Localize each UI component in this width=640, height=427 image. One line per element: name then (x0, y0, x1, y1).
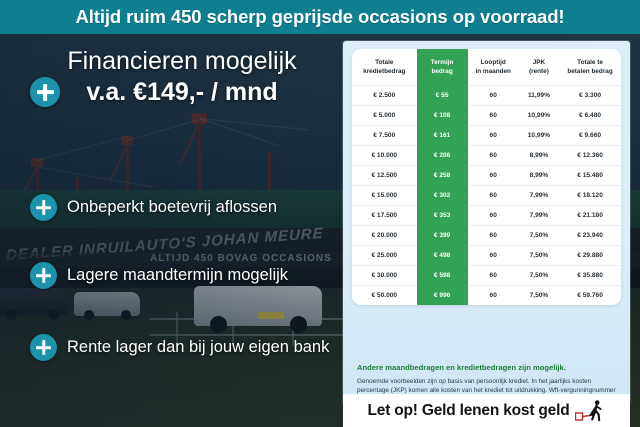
cell-jpk: 10,99% (519, 126, 559, 146)
cell-looptijd: 60 (468, 226, 519, 246)
benefit-item-rente-lager: Rente lager dan bij jouw eigen bank (30, 334, 329, 361)
note-title: Andere maandbedragen en kredietbedragen … (357, 363, 617, 373)
cell-termijnbedrag: € 598 (417, 266, 468, 286)
cell-looptijd: 60 (468, 266, 519, 286)
left-content-column: Financieren mogelijk v.a. €149,- / mnd O… (0, 34, 345, 427)
rates-table-card: Totale kredietbedrag Termijn bedrag Loop… (352, 49, 621, 305)
cell-looptijd: 60 (468, 146, 519, 166)
cell-termijnbedrag: € 399 (417, 226, 468, 246)
table-row: € 20.000€ 399607,50%€ 23.940 (352, 226, 621, 246)
column-header-totale-te-betalen: Totale te betalen bedrag (559, 49, 621, 86)
cell-jpk: 8,99% (519, 166, 559, 186)
table-row: € 2.500€ 556011,99%€ 3.300 (352, 86, 621, 106)
cell-jpk: 7,50% (519, 246, 559, 266)
benefit-label: Onbeperkt boetevrij aflossen (67, 198, 277, 217)
plus-circle-icon (30, 334, 57, 361)
cell-totaal-te-betalen: € 6.480 (559, 106, 621, 126)
cell-termijnbedrag: € 108 (417, 106, 468, 126)
cell-kredietbedrag: € 10.000 (352, 146, 417, 166)
cell-jpk: 11,99% (519, 86, 559, 106)
cell-totaal-te-betalen: € 18.120 (559, 186, 621, 206)
cell-termijnbedrag: € 161 (417, 126, 468, 146)
cell-totaal-te-betalen: € 12.360 (559, 146, 621, 166)
cell-kredietbedrag: € 50.000 (352, 286, 417, 306)
table-row: € 10.000€ 206608,99%€ 12.360 (352, 146, 621, 166)
cell-termijnbedrag: € 996 (417, 286, 468, 306)
header-line-2: betalen bedrag (567, 68, 612, 75)
header-line-2: (rente) (529, 68, 549, 75)
cell-jpk: 7,50% (519, 266, 559, 286)
column-header-jpk: JPK (rente) (519, 49, 559, 86)
cell-totaal-te-betalen: € 23.940 (559, 226, 621, 246)
table-header-row: Totale kredietbedrag Termijn bedrag Loop… (352, 49, 621, 86)
man-pulling-block-icon (575, 400, 605, 422)
cell-looptijd: 60 (468, 86, 519, 106)
cell-looptijd: 60 (468, 246, 519, 266)
table-row: € 50.000€ 996607,50%€ 59.760 (352, 286, 621, 306)
cell-termijnbedrag: € 258 (417, 166, 468, 186)
cell-termijnbedrag: € 302 (417, 186, 468, 206)
header-line-1: Totale (375, 59, 393, 66)
cell-totaal-te-betalen: € 35.880 (559, 266, 621, 286)
headline-block: Financieren mogelijk v.a. €149,- / mnd (26, 46, 338, 108)
header-line-1: JPK (533, 59, 545, 66)
headline-line-1: Financieren mogelijk (26, 46, 338, 76)
cell-termijnbedrag: € 498 (417, 246, 468, 266)
cell-totaal-te-betalen: € 15.480 (559, 166, 621, 186)
plus-circle-icon (30, 194, 57, 221)
cell-jpk: 10,99% (519, 106, 559, 126)
cell-kredietbedrag: € 7.500 (352, 126, 417, 146)
cell-jpk: 7,50% (519, 286, 559, 306)
cell-looptijd: 60 (468, 106, 519, 126)
cell-jpk: 7,99% (519, 206, 559, 226)
cell-kredietbedrag: € 25.000 (352, 246, 417, 266)
promo-banner-image: DEALER INRUILAUTO'S JOHAN MEURE ALTIJD 4… (0, 0, 640, 427)
plus-circle-icon (30, 262, 57, 289)
cell-jpk: 7,99% (519, 186, 559, 206)
table-row: € 17.500€ 353607,99%€ 21.180 (352, 206, 621, 226)
cell-termijnbedrag: € 353 (417, 206, 468, 226)
cell-looptijd: 60 (468, 166, 519, 186)
cell-jpk: 8,99% (519, 146, 559, 166)
table-row: € 7.500€ 1616010,99%€ 9.660 (352, 126, 621, 146)
cell-kredietbedrag: € 30.000 (352, 266, 417, 286)
cell-termijnbedrag: € 55 (417, 86, 468, 106)
cell-totaal-te-betalen: € 29.880 (559, 246, 621, 266)
cell-kredietbedrag: € 5.000 (352, 106, 417, 126)
header-line-2: kredietbedrag (363, 68, 405, 75)
top-banner-text: Altijd ruim 450 scherp geprijsde occasio… (75, 6, 564, 28)
benefit-item-onbeperkt-aflossen: Onbeperkt boetevrij aflossen (30, 194, 277, 221)
top-banner: Altijd ruim 450 scherp geprijsde occasio… (0, 0, 640, 34)
cell-jpk: 7,50% (519, 226, 559, 246)
column-header-looptijd: Looptijd in maanden (468, 49, 519, 86)
credit-rates-table: Totale kredietbedrag Termijn bedrag Loop… (352, 49, 621, 305)
cell-kredietbedrag: € 17.500 (352, 206, 417, 226)
table-row: € 5.000€ 1086010,99%€ 6.480 (352, 106, 621, 126)
cell-looptijd: 60 (468, 206, 519, 226)
table-row: € 15.000€ 302607,99%€ 18.120 (352, 186, 621, 206)
header-line-2: bedrag (431, 68, 452, 75)
column-header-termijn-bedrag: Termijn bedrag (417, 49, 468, 86)
headline-line-2: v.a. €149,- / mnd (26, 76, 338, 108)
header-line-1: Termijn (431, 59, 454, 66)
cell-kredietbedrag: € 15.000 (352, 186, 417, 206)
cell-looptijd: 60 (468, 126, 519, 146)
table-row: € 30.000€ 598607,50%€ 35.880 (352, 266, 621, 286)
cell-kredietbedrag: € 20.000 (352, 226, 417, 246)
cell-kredietbedrag: € 2.500 (352, 86, 417, 106)
cell-totaal-te-betalen: € 9.660 (559, 126, 621, 146)
header-line-1: Looptijd (481, 59, 506, 66)
header-line-1: Totale te (577, 59, 603, 66)
cell-totaal-te-betalen: € 59.760 (559, 286, 621, 306)
cell-termijnbedrag: € 206 (417, 146, 468, 166)
cell-looptijd: 60 (468, 186, 519, 206)
table-row: € 12.500€ 258608,99%€ 15.480 (352, 166, 621, 186)
benefit-item-lagere-maandtermijn: Lagere maandtermijn mogelijk (30, 262, 288, 289)
header-line-2: in maanden (475, 68, 511, 75)
cell-kredietbedrag: € 12.500 (352, 166, 417, 186)
column-header-totale-kredietbedrag: Totale kredietbedrag (352, 49, 417, 86)
cell-totaal-te-betalen: € 21.180 (559, 206, 621, 226)
credit-warning-text: Let op! Geld lenen kost geld (368, 402, 570, 420)
benefit-label: Lagere maandtermijn mogelijk (67, 266, 288, 285)
table-row: € 25.000€ 498607,50%€ 29.880 (352, 246, 621, 266)
benefit-label: Rente lager dan bij jouw eigen bank (67, 338, 329, 357)
table-body: € 2.500€ 556011,99%€ 3.300€ 5.000€ 10860… (352, 86, 621, 306)
cell-totaal-te-betalen: € 3.300 (559, 86, 621, 106)
rates-panel: Totale kredietbedrag Termijn bedrag Loop… (343, 41, 630, 405)
cell-looptijd: 60 (468, 286, 519, 306)
credit-warning-bar: Let op! Geld lenen kost geld (343, 394, 630, 427)
